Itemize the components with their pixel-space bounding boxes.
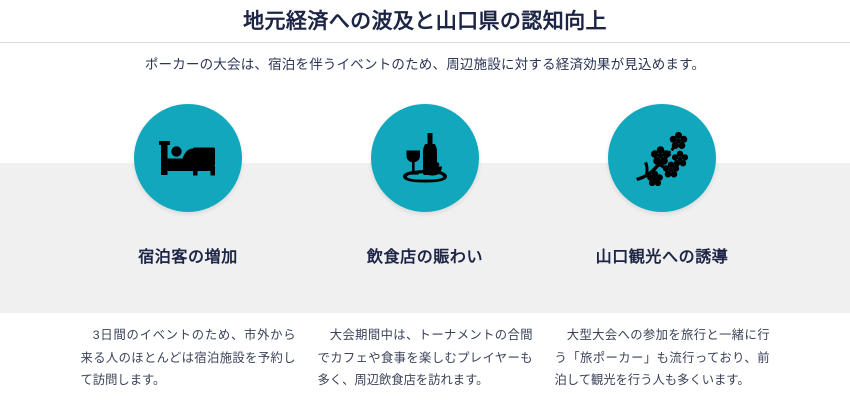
benefit-body-tourism: 大型大会への参加を旅行と一緒に行う「旅ポーカー」も流行っており、前泊して観光を行… [555,324,770,391]
slide-header: 地元経済への波及と山口県の認知向上 [0,0,850,43]
bed-icon [159,137,217,179]
icon-circle-lodging [134,104,242,212]
page-title: 地元経済への波及と山口県の認知向上 [243,11,607,32]
benefit-heading-tourism: 山口観光への誘導 [596,248,729,267]
food-and-drink-icon [397,130,453,186]
subtitle-text: ポーカーの大会は、宿泊を伴うイベントのため、周辺施設に対する経済効果が見込めます… [0,55,850,75]
benefit-heading-lodging: 宿泊客の増加 [138,248,238,267]
benefit-heading-dining: 飲食店の賑わい [367,248,483,267]
icon-circle-dining [371,104,479,212]
benefit-columns: 宿泊客の増加 3日間のイベントのため、市外から来る人のほとんどは宿泊施設を予約し… [0,104,850,418]
benefit-column-tourism: 山口観光への誘導 大型大会への参加を旅行と一緒に行う「旅ポーカー」も流行っており… [544,104,781,391]
cherry-blossom-icon [633,130,691,186]
benefit-body-lodging: 3日間のイベントのため、市外から来る人のほとんどは宿泊施設を予約して訪問します。 [81,324,296,391]
icon-circle-tourism [608,104,716,212]
subtitle-container: ポーカーの大会は、宿泊を伴うイベントのため、周辺施設に対する経済効果が見込めます… [0,55,850,75]
benefit-column-dining: 飲食店の賑わい 大会期間中は、トーナメントの合間でカフェや食事を楽しむプレイヤー… [307,104,544,391]
slide-root: 地元経済への波及と山口県の認知向上 ポーカーの大会は、宿泊を伴うイベントのため、… [0,0,850,418]
benefit-body-dining: 大会期間中は、トーナメントの合間でカフェや食事を楽しむプレイヤーも多く、周辺飲食… [318,324,533,391]
benefit-column-lodging: 宿泊客の増加 3日間のイベントのため、市外から来る人のほとんどは宿泊施設を予約し… [70,104,307,391]
